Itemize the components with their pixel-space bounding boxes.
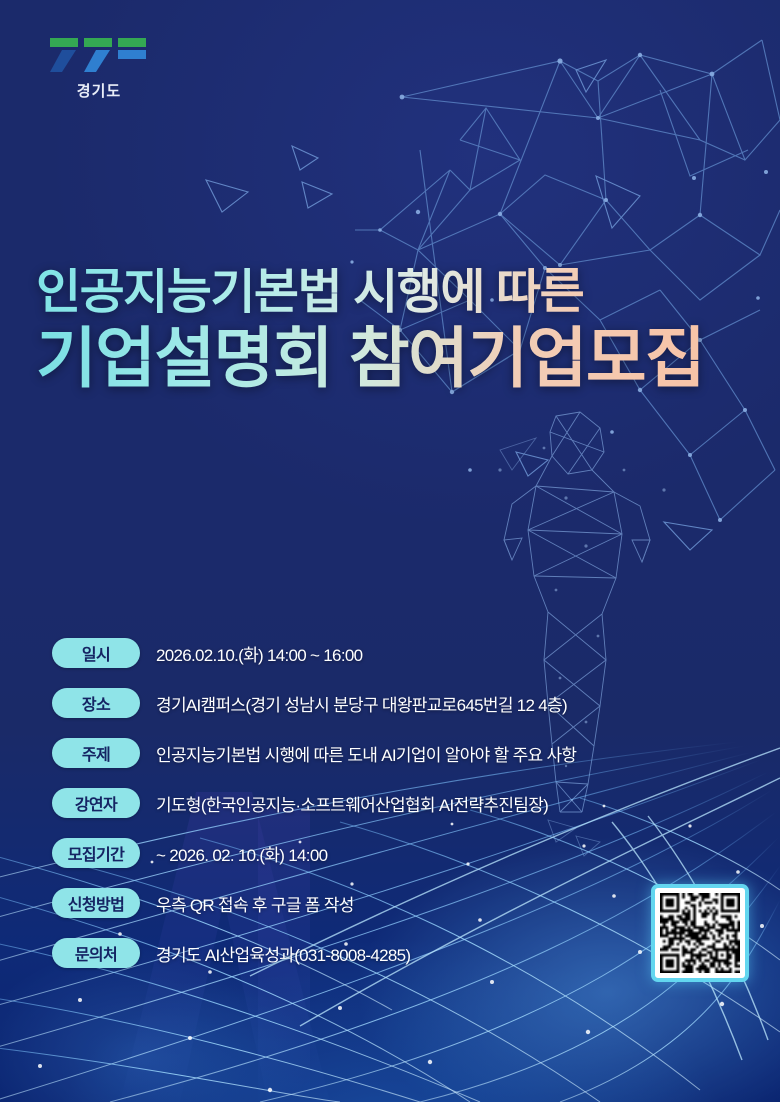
logo-label: 경기도 [44,80,154,101]
info-row-date: 일시 2026.02.10.(화) 14:00 ~ 16:00 [52,636,752,670]
info-row-application-period: 모집기간 ~ 2026. 02. 10.(화) 14:00 [52,836,752,870]
info-value-venue: 경기AI캠퍼스(경기 성남시 분당구 대왕판교로645번길 12 4층) [156,691,567,716]
info-label-application-period: 모집기간 [52,838,140,868]
event-info-list: 일시 2026.02.10.(화) 14:00 ~ 16:00 장소 경기AI캠… [52,636,752,986]
info-label-venue: 장소 [52,688,140,718]
poster-headline: 인공지능기본법 시행에 따른 기업설명회 참여기업모집 [36,268,704,391]
info-value-topic: 인공지능기본법 시행에 따른 도내 AI기업이 알아야 할 주요 사항 [156,741,576,766]
info-row-topic: 주제 인공지능기본법 시행에 따른 도내 AI기업이 알아야 할 주요 사항 [52,736,752,770]
event-poster: 경기도 인공지능기본법 시행에 따른 기업설명회 참여기업모집 일시 2026.… [0,0,780,1102]
headline-line-2: 기업설명회 참여기업모집 [36,325,704,391]
info-label-speaker: 강연자 [52,788,140,818]
info-row-contact: 문의처 경기도 AI산업육성과(031-8008-4285) [52,936,752,970]
gyeonggi-logo-mark [44,36,154,76]
info-value-contact: 경기도 AI산업육성과(031-8008-4285) [156,941,410,966]
info-value-date: 2026.02.10.(화) 14:00 ~ 16:00 [156,641,362,666]
qr-code-image [660,893,740,973]
info-label-how-to-apply: 신청방법 [52,888,140,918]
info-label-topic: 주제 [52,738,140,768]
qr-code[interactable] [651,884,749,982]
info-row-venue: 장소 경기AI캠퍼스(경기 성남시 분당구 대왕판교로645번길 12 4층) [52,686,752,720]
info-value-application-period: ~ 2026. 02. 10.(화) 14:00 [156,841,327,866]
info-label-date: 일시 [52,638,140,668]
headline-line-1: 인공지능기본법 시행에 따른 [36,268,704,317]
info-row-how-to-apply: 신청방법 우측 QR 접속 후 구글 폼 작성 [52,886,752,920]
info-value-speaker: 기도형(한국인공지능·소프트웨어산업협회 AI전략추진팀장) [156,791,548,816]
gyeonggi-do-logo: 경기도 [44,36,154,101]
info-value-how-to-apply: 우측 QR 접속 후 구글 폼 작성 [156,891,354,916]
info-row-speaker: 강연자 기도형(한국인공지능·소프트웨어산업협회 AI전략추진팀장) [52,786,752,820]
info-label-contact: 문의처 [52,938,140,968]
